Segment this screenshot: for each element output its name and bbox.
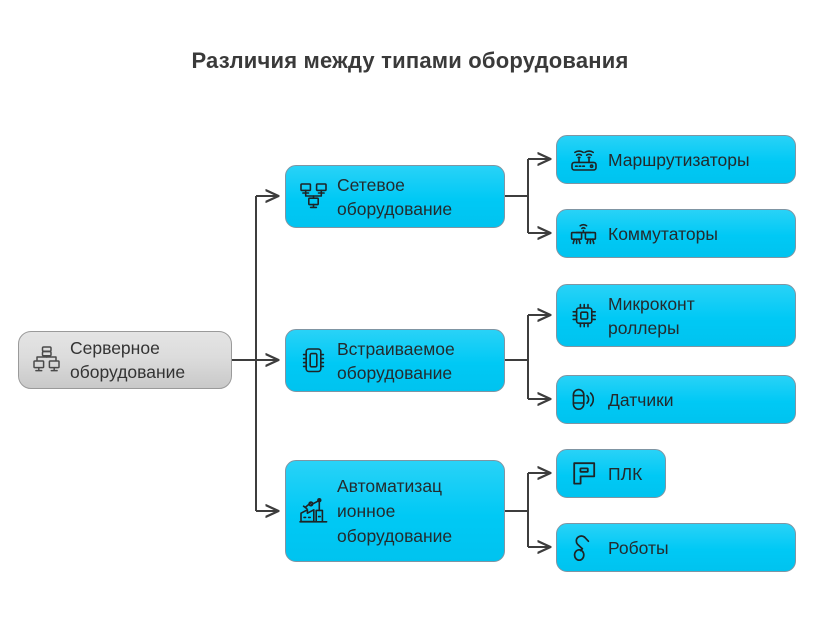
node-branch-embedded[interactable]: Встраиваемое оборудование	[285, 329, 505, 392]
node-leaf-sensors[interactable]: Датчики	[556, 375, 796, 424]
node-leaf-routers-label: Маршрутизаторы	[608, 148, 785, 172]
node-root-label: Серверное оборудование	[70, 336, 221, 384]
node-leaf-microcontrollers[interactable]: Микроконт роллеры	[556, 284, 796, 347]
microcontroller-icon	[569, 300, 599, 332]
node-branch-automation[interactable]: Автоматизац ионное оборудование	[285, 460, 505, 562]
network-switch-icon	[569, 218, 599, 250]
chip-icon	[298, 345, 328, 377]
node-leaf-robots-label: Роботы	[608, 536, 785, 560]
network-topology-icon	[298, 181, 328, 213]
node-leaf-routers[interactable]: Маршрутизаторы	[556, 135, 796, 184]
diagram-canvas: Различия между типами оборудования	[0, 0, 820, 622]
router-icon	[569, 144, 599, 176]
page-title: Различия между типами оборудования	[0, 48, 820, 74]
node-branch-network-label: Сетевое оборудование	[337, 173, 494, 221]
server-network-icon	[31, 344, 61, 376]
node-branch-network[interactable]: Сетевое оборудование	[285, 165, 505, 228]
node-leaf-sensors-label: Датчики	[608, 388, 785, 412]
node-leaf-switches-label: Коммутаторы	[608, 222, 785, 246]
plc-icon	[569, 458, 599, 490]
node-branch-embedded-label: Встраиваемое оборудование	[337, 337, 494, 385]
node-leaf-robots[interactable]: Роботы	[556, 523, 796, 572]
node-branch-automation-label: Автоматизац ионное оборудование	[337, 474, 494, 549]
node-leaf-plc[interactable]: ПЛК	[556, 449, 666, 498]
factory-robot-arm-icon	[298, 495, 328, 527]
node-root[interactable]: Серверное оборудование	[18, 331, 232, 389]
sensor-icon	[569, 384, 599, 416]
node-leaf-plc-label: ПЛК	[608, 462, 655, 486]
node-leaf-switches[interactable]: Коммутаторы	[556, 209, 796, 258]
node-leaf-microcontrollers-label: Микроконт роллеры	[608, 292, 785, 340]
robot-arm-icon	[569, 532, 599, 564]
